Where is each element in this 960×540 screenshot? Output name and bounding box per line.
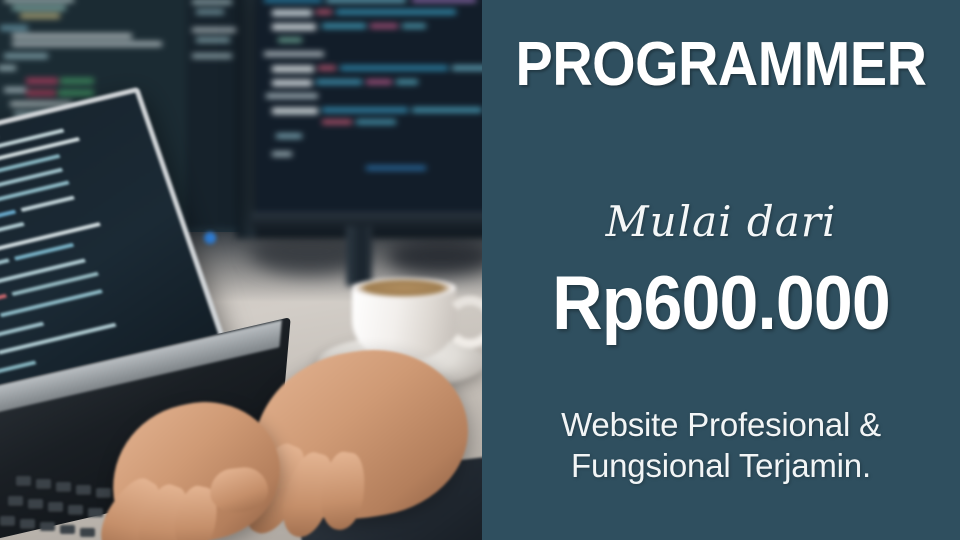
right-monitor [256, 0, 482, 222]
offer-panel: PROGRAMMER Mulai dari Rp600.000 Website … [482, 0, 960, 540]
tagline-line-2: Fungsional Terjamin. [482, 445, 960, 486]
tagline: Website Profesional & Fungsional Terjami… [482, 404, 960, 486]
price-value: Rp600.000 [501, 262, 941, 346]
monitor-stand [346, 226, 372, 286]
headline-programmer: PROGRAMMER [506, 34, 936, 96]
script-mulai-dari: Mulai dari [482, 198, 960, 246]
promo-banner: PROGRAMMER Mulai dari Rp600.000 Website … [0, 0, 960, 540]
programmer-desk-photo [0, 0, 482, 540]
monitor-power-led [204, 232, 216, 244]
coffee-surface [352, 278, 456, 298]
tagline-line-1: Website Profesional & [482, 404, 960, 445]
